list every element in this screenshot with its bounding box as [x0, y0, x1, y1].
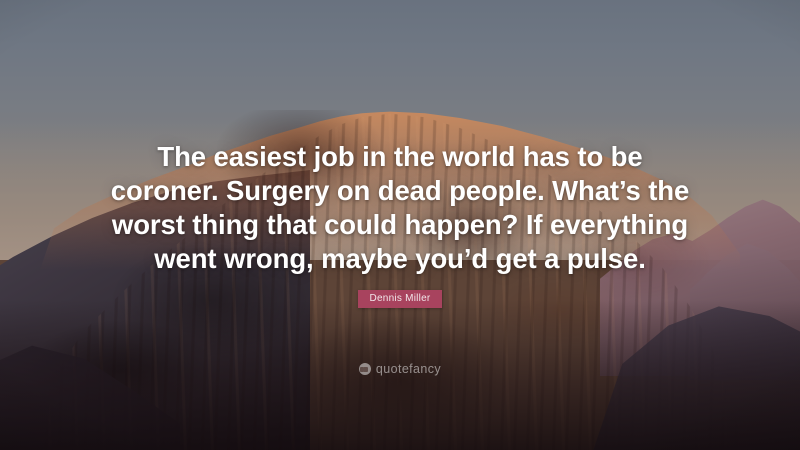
- quote-text-block: The easiest job in the world has to be c…: [0, 140, 800, 276]
- quote-line-1: The easiest job in the world has to be: [60, 140, 740, 174]
- author-attribution: Dennis Miller: [0, 288, 800, 308]
- quote-line-3: worst thing that could happen? If everyt…: [60, 208, 740, 242]
- brand-name: quotefancy: [376, 362, 441, 376]
- quote-line-4: went wrong, maybe you’d get a pulse.: [60, 242, 740, 276]
- quote-poster: The easiest job in the world has to be c…: [0, 0, 800, 450]
- author-name-badge[interactable]: Dennis Miller: [358, 290, 441, 308]
- quote-line-2: coroner. Surgery on dead people. What’s …: [60, 174, 740, 208]
- quotefancy-logo-icon: [359, 363, 371, 375]
- brand-watermark[interactable]: quotefancy: [0, 362, 800, 376]
